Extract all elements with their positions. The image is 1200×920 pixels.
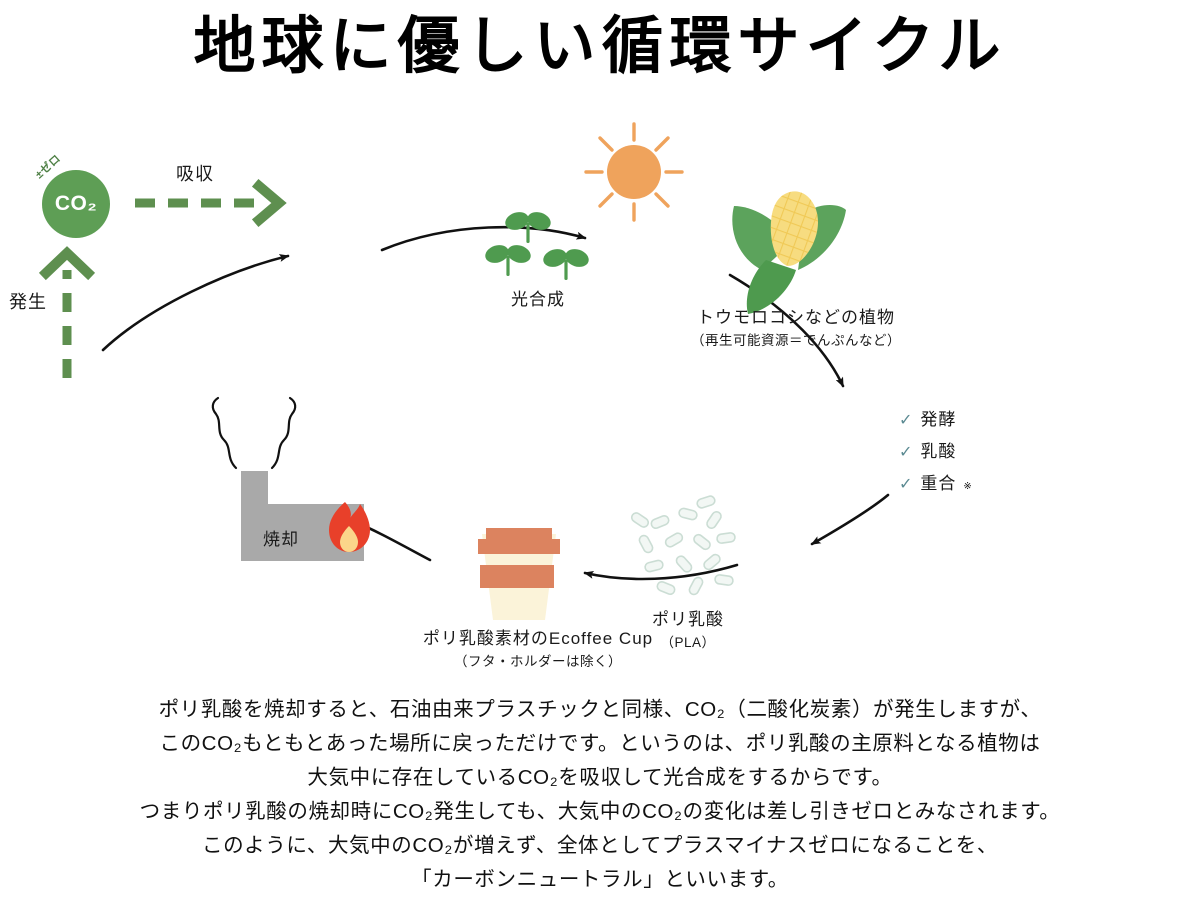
co2-bubble: CO₂ [42,170,110,238]
process-step-label: 重合 [920,469,956,494]
explanation-paragraph: ポリ乳酸を焼却すると、石油由来プラスチックと同様、CO₂（二酸化炭素）が発生しま… [0,693,1200,897]
paragraph-line: このように、大気中のCO₂が増えず、全体としてプラスマイナスゼロになることを、 [0,829,1200,863]
infographic-page: 地球に優しい循環サイクル [0,0,1200,920]
cup-label: ポリ乳酸素材のEcoffee Cup [368,624,708,649]
paragraph-line: このCO₂もともとあった場所に戻っただけです。というのは、ポリ乳酸の主原料となる… [0,727,1200,761]
page-title: 地球に優しい循環サイクル [0,8,1200,86]
arrow-to-photosynthesis [103,256,288,350]
process-step-note: ※ [963,481,972,492]
arrow-to-corn [382,227,585,250]
photosynthesis-label: 光合成 [478,285,598,310]
check-icon: ✓ [899,477,913,493]
carbon-cycle-diagram: CO₂ ±ゼロ 吸収 発生 光合成 トウモロコシなどの植物 （再生可能資源＝でん… [0,110,1200,685]
check-icon: ✓ [899,413,913,429]
corn-icon [732,191,846,314]
paragraph-line: ポリ乳酸を焼却すると、石油由来プラスチックと同様、CO₂（二酸化炭素）が発生しま… [0,693,1200,727]
co2-label: CO₂ [55,192,97,216]
corn-label: トウモロコシなどの植物 [646,303,946,328]
generate-flow-label: 発生 [8,290,48,314]
cup-sub-label: （フタ・ホルダーは除く） [368,650,708,670]
absorb-flow-label: 吸収 [155,160,235,186]
generate-arrow-dashed [46,253,88,378]
cycle-graphics [0,110,1200,685]
incineration-label: 焼却 [231,525,331,550]
sprout-icons [483,209,591,280]
paragraph-line: 大気中に存在しているCO₂を吸収して光合成をするからです。 [0,761,1200,795]
corn-sub-label: （再生可能資源＝でんぷんなど） [646,329,946,349]
sun-icon [586,124,682,220]
ecoffee-cup-icon [478,528,560,620]
paragraph-line: つまりポリ乳酸の焼却時にCO₂発生しても、大気中のCO₂の変化は差し引きゼロとみ… [0,795,1200,829]
arrow-to-pla [812,495,888,544]
process-step-item: ✓ 発酵 [899,405,973,430]
absorb-arrow-dashed [135,186,279,220]
process-step-item: ✓ 重合 ※ [899,469,973,494]
process-step-item: ✓ 乳酸 [899,437,973,462]
process-step-label: 発酵 [920,405,956,430]
process-step-label: 乳酸 [920,437,956,462]
check-icon: ✓ [899,445,913,461]
pla-pellets-icon [630,495,736,596]
paragraph-line: 「カーボンニュートラル」といいます。 [0,863,1200,897]
process-step-list: ✓ 発酵 ✓ 乳酸 ✓ 重合 ※ [899,405,973,494]
